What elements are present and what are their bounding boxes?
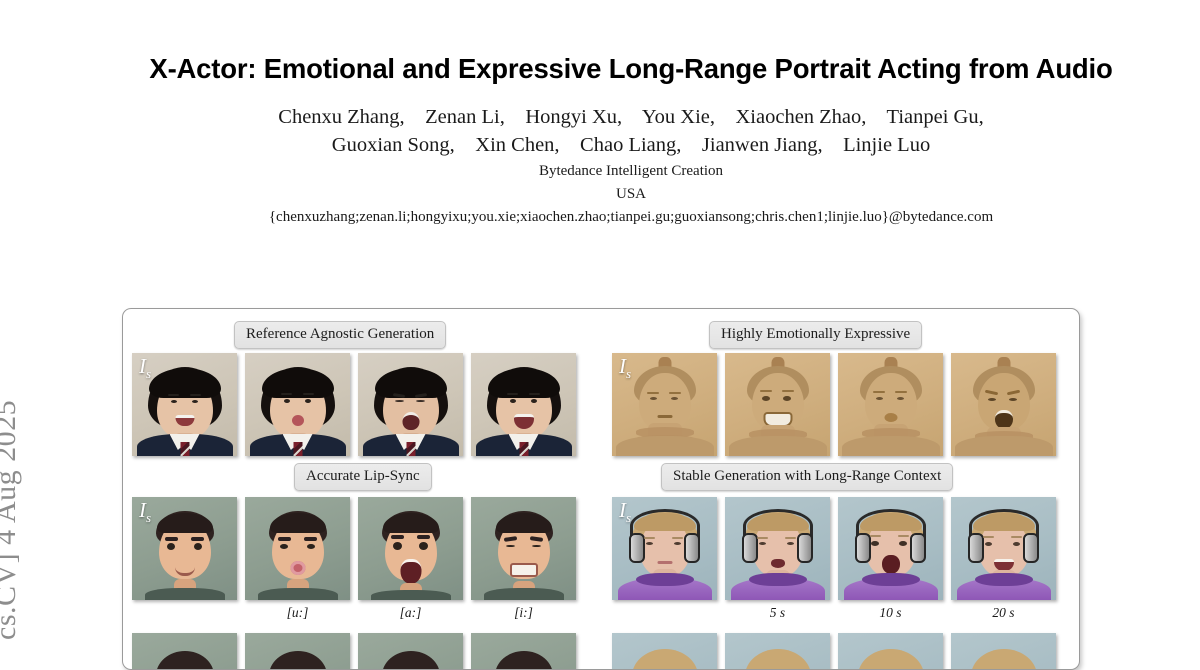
thumbnail-headphones-row3-3[interactable] [838, 633, 943, 670]
thumbnail-character-frame-a[interactable] [358, 497, 463, 600]
source-frame-badge: Is [619, 500, 631, 524]
thumbnail-headphones-row3-4[interactable] [951, 633, 1056, 670]
thumbnail-headphones-frame-10s[interactable] [838, 497, 943, 600]
image-row-terracotta: Is [612, 353, 1056, 456]
thumbnail-terracotta-frame-3[interactable] [838, 353, 943, 456]
country: USA [62, 181, 1200, 204]
author-line-1: Chenxu Zhang, Zenan Li, Hongyi Xu, You X… [62, 86, 1200, 130]
thumbnail-character-row3-4[interactable] [471, 633, 576, 670]
thumbnail-headphones-frame-20s[interactable] [951, 497, 1056, 600]
thumbnail-schoolgirl-frame-3[interactable] [358, 353, 463, 456]
author-line-2: Guoxian Song, Xin Chen, Chao Liang, Jian… [62, 130, 1200, 158]
source-frame-badge: Is [619, 356, 631, 380]
thumbnail-character-row3-1[interactable] [132, 633, 237, 670]
thumbnail-schoolgirl-frame-4[interactable] [471, 353, 576, 456]
thumbnail-character-frame-u[interactable] [245, 497, 350, 600]
thumbnail-character-source[interactable]: Is [132, 497, 237, 600]
image-row-schoolgirl: Is [132, 353, 576, 456]
thumbnail-character-frame-i[interactable] [471, 497, 576, 600]
thumbnail-character-row3-3[interactable] [358, 633, 463, 670]
panel-caption-reference-agnostic: Reference Agnostic Generation [234, 321, 446, 349]
thumbnail-terracotta-frame-2[interactable] [725, 353, 830, 456]
thumbnail-schoolgirl-source[interactable]: Is [132, 353, 237, 456]
thumbnail-character-row3-2[interactable] [245, 633, 350, 670]
phoneme-label-a: [a:] [358, 605, 463, 621]
paper-header: X-Actor: Emotional and Expressive Long-R… [62, 0, 1200, 227]
affiliation: Bytedance Intelligent Creation [62, 158, 1200, 181]
page-title: X-Actor: Emotional and Expressive Long-R… [62, 0, 1200, 86]
panel-caption-highly-expressive: Highly Emotionally Expressive [709, 321, 922, 349]
time-label-5s: 5 s [725, 605, 830, 621]
thumbnail-headphones-row3-1[interactable] [612, 633, 717, 670]
time-label-10s: 10 s [838, 605, 943, 621]
thumbnail-terracotta-source[interactable]: Is [612, 353, 717, 456]
panel-caption-long-range: Stable Generation with Long-Range Contex… [661, 463, 953, 491]
thumbnail-terracotta-frame-4[interactable] [951, 353, 1056, 456]
thumbnail-schoolgirl-frame-2[interactable] [245, 353, 350, 456]
arxiv-stamp-text: cs.CV] 4 Aug 2025 [0, 400, 23, 640]
thumbnail-headphones-row3-2[interactable] [725, 633, 830, 670]
teaser-figure: Reference Agnostic Generation Highly Emo… [122, 308, 1080, 670]
thumbnail-headphones-source[interactable]: Is [612, 497, 717, 600]
author-emails: {chenxuzhang;zenan.li;hongyixu;you.xie;x… [62, 204, 1200, 227]
source-frame-badge: Is [139, 500, 151, 524]
phoneme-label-u: [u:] [245, 605, 350, 621]
arxiv-stamp: cs.CV] 4 Aug 2025 [0, 0, 62, 648]
phoneme-label-i: [i:] [471, 605, 576, 621]
image-row-animated-character: Is [132, 497, 576, 600]
image-row-headphones-woman: Is [612, 497, 1056, 600]
source-frame-badge: Is [139, 356, 151, 380]
image-row-headphones-woman-continued [612, 633, 1056, 670]
image-row-animated-character-continued [132, 633, 576, 670]
time-label-20s: 20 s [951, 605, 1056, 621]
panel-caption-lip-sync: Accurate Lip-Sync [294, 463, 432, 491]
thumbnail-headphones-frame-5s[interactable] [725, 497, 830, 600]
